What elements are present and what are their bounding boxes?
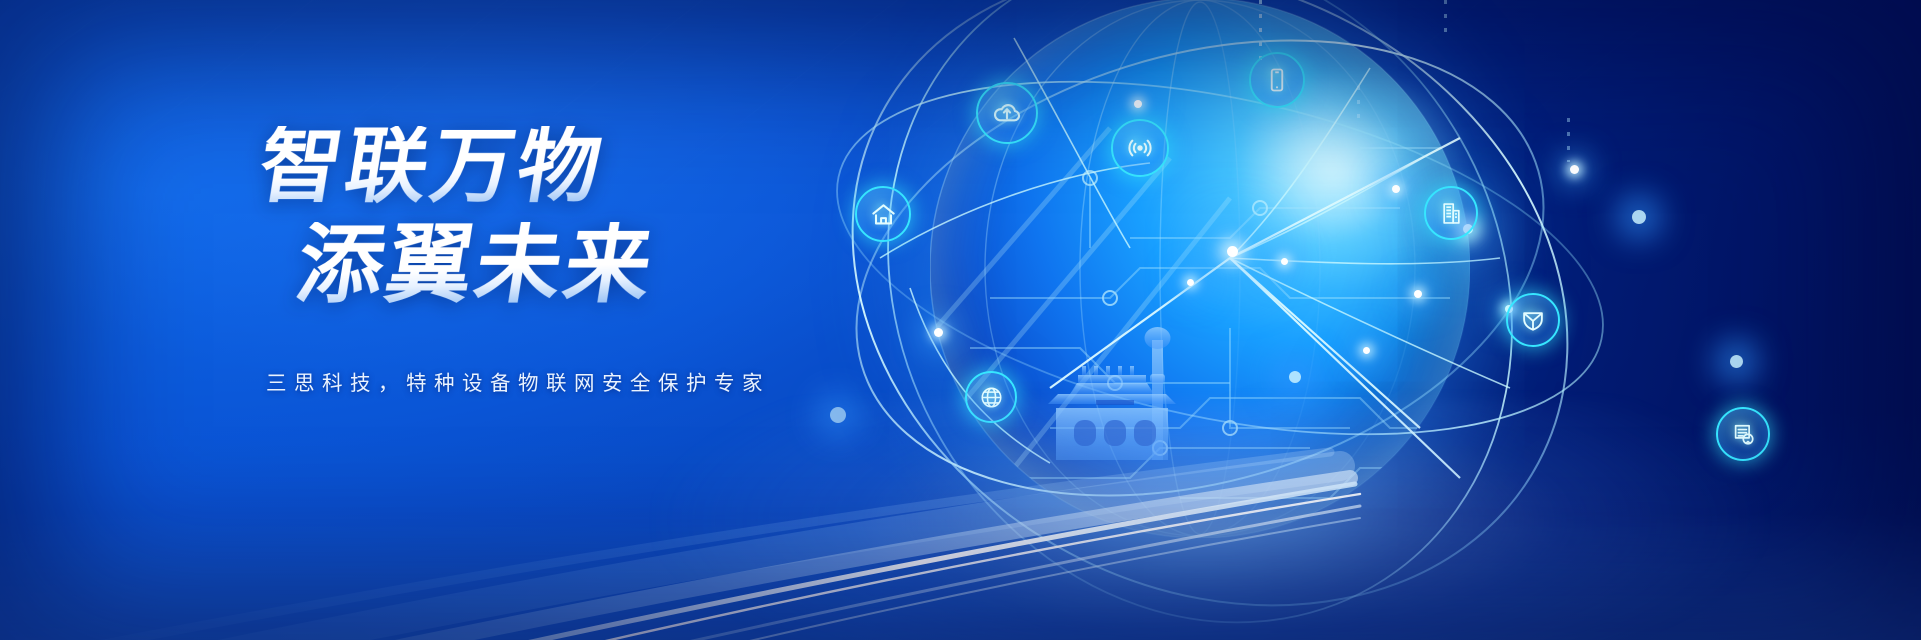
headline-line-2: 添翼未来 — [291, 222, 1019, 308]
headline-block: 智联万物 添翼未来 三思科技，特种设备物联网安全保护专家 — [252, 126, 1012, 396]
banner-hero: 智联万物 添翼未来 三思科技，特种设备物联网安全保护专家 — [0, 0, 1921, 640]
headline-line-1: 智联万物 — [254, 126, 1019, 208]
subtitle: 三思科技，特种设备物联网安全保护专家 — [266, 366, 1012, 396]
